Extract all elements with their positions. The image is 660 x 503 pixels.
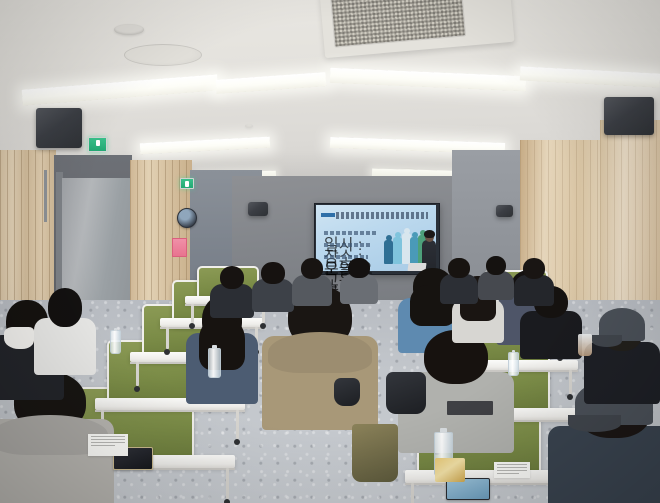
exit-sign-near — [88, 137, 107, 152]
slide-accent-bar — [321, 213, 335, 217]
person-head — [261, 262, 285, 284]
student-cap-back — [584, 310, 660, 400]
backpack-aisle — [386, 372, 426, 414]
bottle-cap — [212, 345, 217, 349]
desk-edge — [95, 410, 245, 412]
door-jamb-strip — [44, 170, 47, 222]
person-torso — [520, 311, 582, 359]
person-head — [48, 288, 83, 327]
student-far-row-d — [340, 258, 378, 302]
person-head — [220, 266, 245, 289]
wall-speaker-right — [604, 97, 654, 135]
person-torso — [478, 271, 514, 300]
wall-clock-icon — [177, 208, 197, 228]
presenter-hair — [424, 230, 435, 238]
exit-sign-far — [180, 178, 194, 189]
water-bottle-right-row — [508, 352, 519, 376]
person-torso — [34, 318, 96, 375]
person-torso — [440, 274, 478, 304]
lecture-hall-photo: 오늘 제1부와 제2생절활마당 오리엔테이션 일시 : 오늘 오후 2시부터 진… — [0, 0, 660, 503]
notice-placard — [172, 238, 187, 257]
tote-bag-floor — [352, 424, 398, 482]
student-far-row-a — [210, 266, 254, 316]
person-torso — [514, 275, 554, 306]
student-far-row-c — [292, 258, 332, 304]
chair-caster — [134, 386, 140, 392]
chair-caster — [224, 499, 230, 503]
bottle-cap — [440, 428, 447, 434]
person-head — [523, 258, 545, 279]
bottle-cap — [512, 350, 516, 353]
student-far-row-g — [514, 258, 554, 304]
handout-paper-front-left — [88, 434, 128, 456]
iced-coffee-cup — [578, 334, 592, 356]
chair-caster — [234, 439, 240, 445]
smoke-detector-icon — [114, 24, 144, 35]
person-long-hair — [199, 318, 245, 370]
person-head — [448, 258, 469, 278]
person-head — [301, 258, 323, 279]
person-torso — [292, 275, 332, 306]
desk-leg — [236, 410, 239, 439]
hoodie-graphic — [447, 401, 493, 415]
ceiling-sensor-icon — [245, 124, 253, 128]
person-torso — [252, 279, 294, 312]
person-head — [348, 258, 369, 278]
student-far-row-b — [252, 262, 294, 310]
person-torso — [210, 284, 254, 318]
handout-paper-front-right — [494, 462, 530, 478]
desk-leg — [166, 327, 169, 349]
wall-speaker-front-left — [248, 202, 268, 216]
student-left-white-shirt — [34, 288, 96, 372]
wall-speaker-left — [36, 108, 82, 148]
slide-bullet-2: 장소 : 교육정보관 2층 강의실 — [324, 243, 372, 247]
desk-leg — [411, 483, 414, 503]
hoodie-hood — [268, 332, 372, 373]
person-torso — [340, 274, 378, 304]
student-far-row-f — [478, 256, 514, 298]
backpack-left-aisle — [334, 378, 360, 406]
desk-leg — [136, 362, 139, 386]
slide-title-text: 오늘 제1부와 제2생절활마당 오리엔테이션 — [336, 212, 428, 219]
water-bottle-mid-left — [110, 330, 121, 354]
person-head — [486, 256, 506, 275]
wall-speaker-front-right — [496, 205, 513, 217]
face-mask — [4, 327, 34, 348]
student-far-row-e — [440, 258, 478, 302]
water-bottle-center — [208, 348, 221, 378]
desk-leg — [226, 468, 229, 499]
bottle-cap — [114, 328, 118, 331]
snack-package-gold — [435, 458, 465, 482]
chair-caster — [164, 349, 170, 355]
person-torso — [584, 342, 660, 403]
slide-bullet-1: 일시 : 오늘 오후 2시부터 진행됩니다 — [324, 231, 376, 235]
ceiling-speaker-icon — [124, 44, 202, 66]
